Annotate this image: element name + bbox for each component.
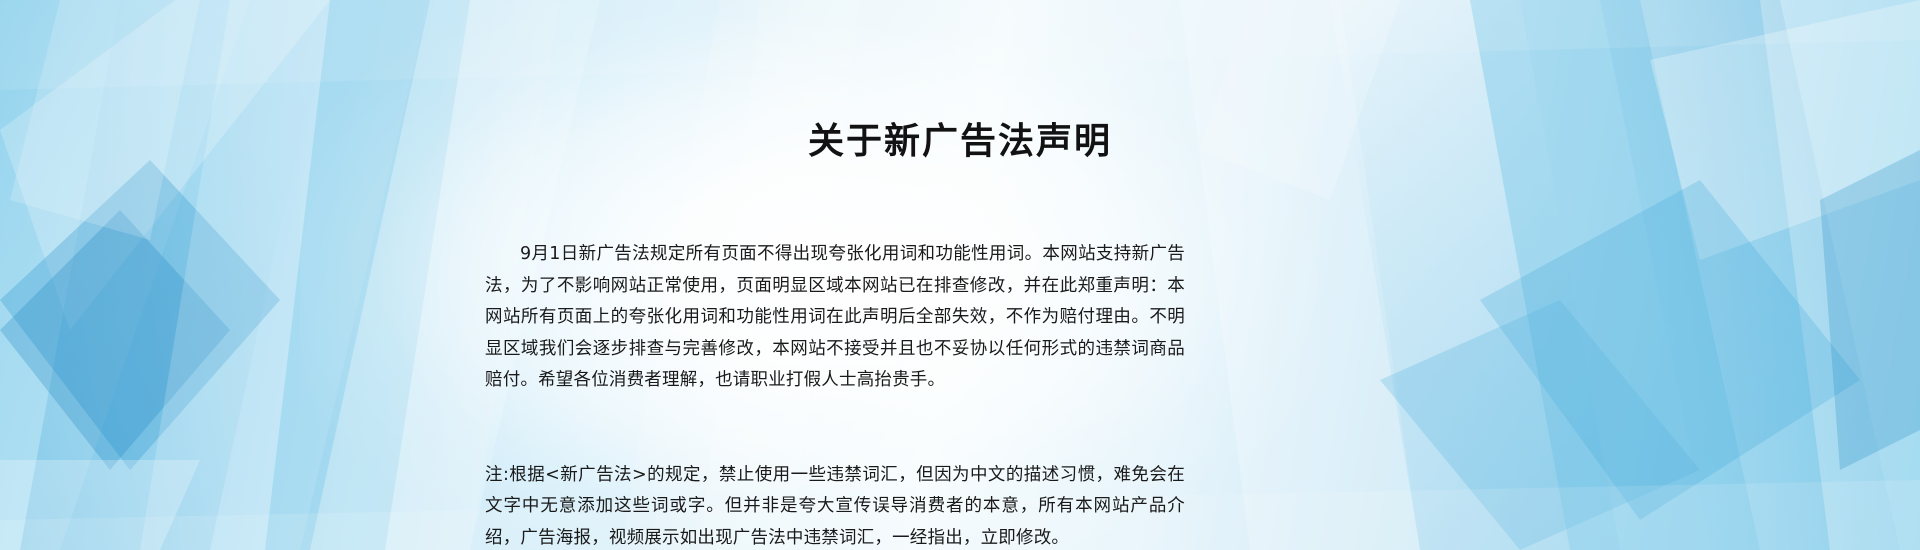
statement-body: 9月1日新广告法规定所有页面不得出现夸张化用词和功能性用词。本网站支持新广告法，… [485, 176, 1185, 550]
statement-paragraph-main: 9月1日新广告法规定所有页面不得出现夸张化用词和功能性用词。本网站支持新广告法，… [485, 239, 1185, 397]
statement-content: 关于新广告法声明 9月1日新广告法规定所有页面不得出现夸张化用词和功能性用词。本… [0, 0, 1920, 550]
statement-paragraph-note: 注:根据<新广告法>的规定，禁止使用一些违禁词汇，但因为中文的描述习惯，难免会在… [485, 460, 1185, 550]
advertising-law-banner: 关于新广告法声明 9月1日新广告法规定所有页面不得出现夸张化用词和功能性用词。本… [0, 0, 1920, 550]
page-title: 关于新广告法声明 [0, 112, 1920, 164]
